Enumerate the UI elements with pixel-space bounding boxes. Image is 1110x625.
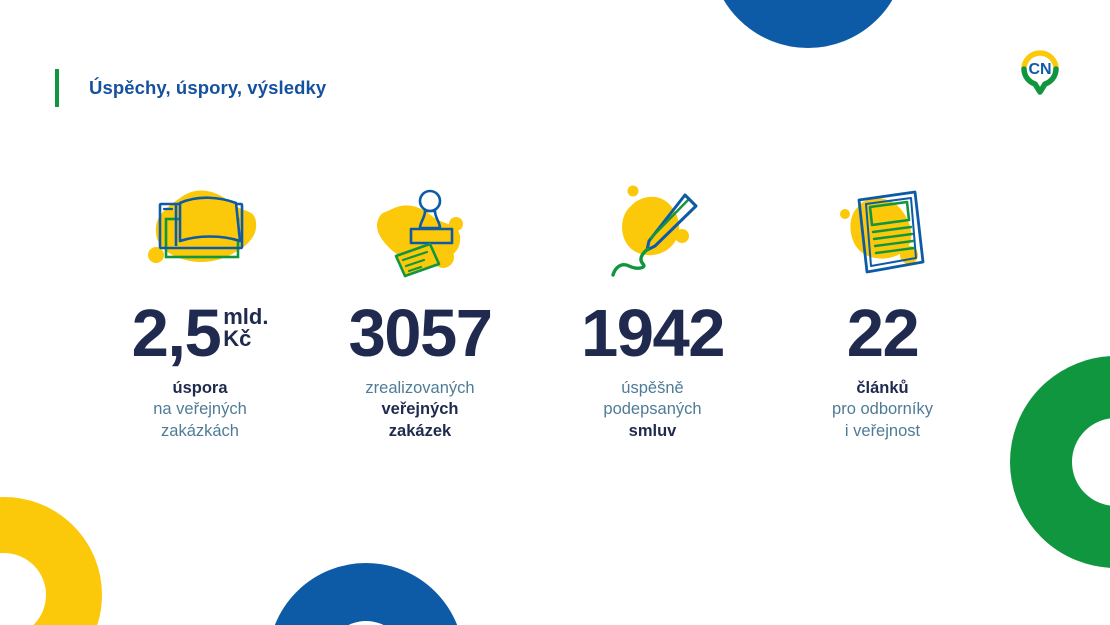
article-document-icon [823,180,943,288]
stat-value-row: 3057 [348,302,491,366]
title-accent-bar [55,69,59,107]
stat-value: 1942 [581,302,724,366]
stat-caption-soft-1: úspěšně [621,379,683,397]
stat-caption-soft-1: pro odborníky [832,400,933,418]
svg-text:CN: CN [1028,61,1051,78]
stat-value-row: 22 [847,302,919,366]
stat-caption-bold: článků [856,379,908,397]
stat-caption: článků pro odborníky i veřejnost [832,378,933,442]
stat-value: 22 [847,302,919,366]
decor-ring-top-blue [710,0,906,48]
stat-caption-bold: úspora [172,379,227,397]
decor-ring-bottom-blue [268,563,464,625]
stat-value-row: 1942 [581,302,724,366]
slide-canvas: CN Úspěchy, úspory, výsledky 2, [0,0,1110,625]
stat-card-articles: 22 článků pro odborníky i veřejnost [765,180,1000,442]
stat-caption-soft-1: zrealizovaných [365,379,474,397]
stat-value-row: 2,5 mld. Kč [132,302,269,366]
stat-caption-soft-2: zakázkách [161,422,239,440]
stat-caption-soft-2: podepsaných [603,400,701,418]
banknotes-icon [140,180,260,288]
stat-value: 3057 [348,302,491,366]
stat-caption-bold-2: zakázek [389,422,451,440]
stat-unit-line1: mld. [223,304,268,329]
page-title: Úspěchy, úspory, výsledky [55,68,326,108]
statistics-row: 2,5 mld. Kč úspora na veřejných zakázkác… [100,180,1000,442]
stat-caption-bold-1: veřejných [381,400,458,418]
stamp-icon [360,180,480,288]
title-text: Úspěchy, úspory, výsledky [89,77,326,99]
stat-caption-bold: smluv [629,422,677,440]
stat-card-contracts: 1942 úspěšně podepsaných smluv [540,180,765,442]
stat-caption: úspěšně podepsaných smluv [603,378,701,442]
stat-unit-line2: Kč [223,326,251,351]
signing-pen-icon [593,180,713,288]
stat-caption: úspora na veřejných zakázkách [153,378,247,442]
cn-logo: CN [1015,42,1065,96]
stat-caption-soft-2: i veřejnost [845,422,920,440]
decor-ring-bottom-yellow [0,497,102,625]
stat-caption-soft-1: na veřejných [153,400,247,418]
decor-ring-right-green [1010,356,1110,568]
stat-card-tenders: 3057 zrealizovaných veřejných zakázek [300,180,540,442]
stat-card-savings: 2,5 mld. Kč úspora na veřejných zakázkác… [100,180,300,442]
stat-value: 2,5 [132,302,221,366]
stat-unit: mld. Kč [223,306,268,351]
stat-caption: zrealizovaných veřejných zakázek [365,378,474,442]
